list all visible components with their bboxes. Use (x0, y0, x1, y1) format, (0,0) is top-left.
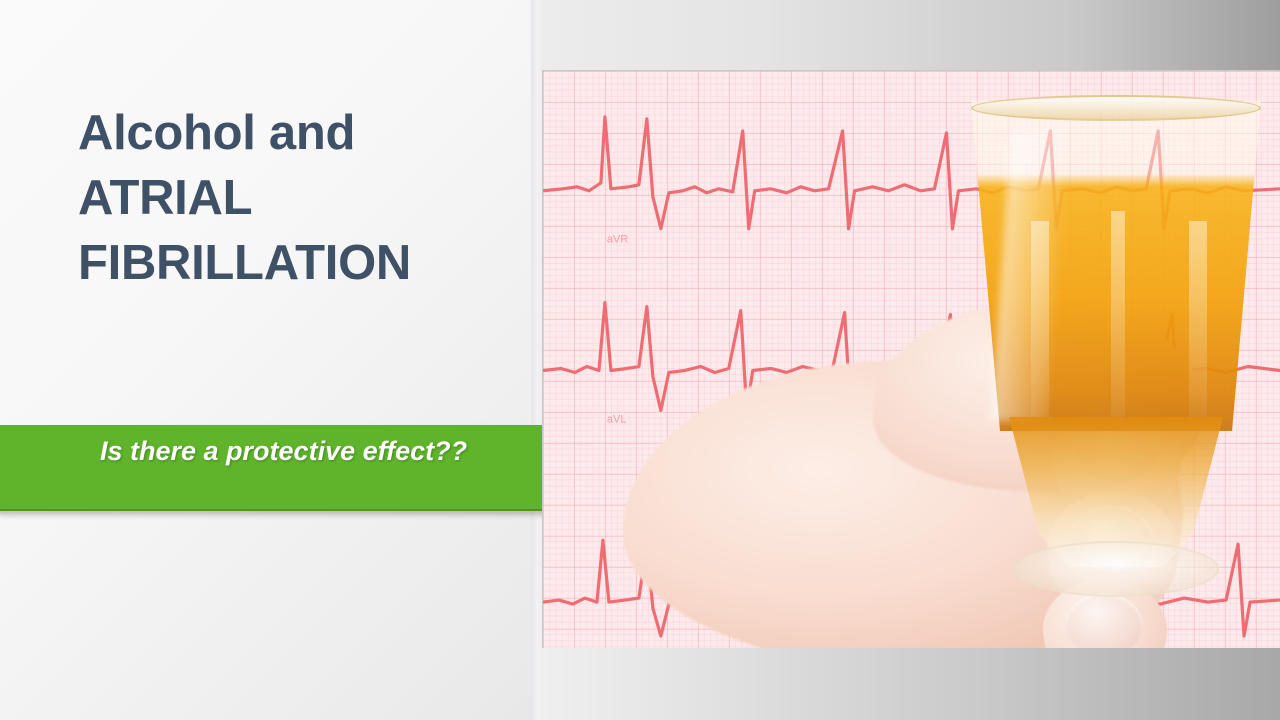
glass-rim (971, 95, 1261, 121)
title-line-1: Alcohol and (78, 101, 508, 166)
title-line-3: FIBRILLATION (78, 231, 508, 296)
presentation-slide: Alcohol and ATRIAL FIBRILLATION Is there… (0, 0, 1280, 720)
glass-foot (1013, 541, 1219, 597)
glass-facet-3 (1189, 221, 1207, 421)
svg-text:aVR: aVR (607, 234, 628, 246)
subtitle-banner: Is there a protective effect?? (0, 425, 588, 511)
slide-title: Alcohol and ATRIAL FIBRILLATION (78, 101, 508, 296)
glass-of-alcohol (961, 101, 1261, 601)
glass-facet-2 (1111, 211, 1125, 421)
title-line-2: ATRIAL (78, 166, 508, 231)
subtitle-text: Is there a protective effect?? (100, 434, 520, 469)
photo-bottom-strip (542, 648, 1280, 720)
slide-photo: aVR aVL (542, 70, 1280, 648)
